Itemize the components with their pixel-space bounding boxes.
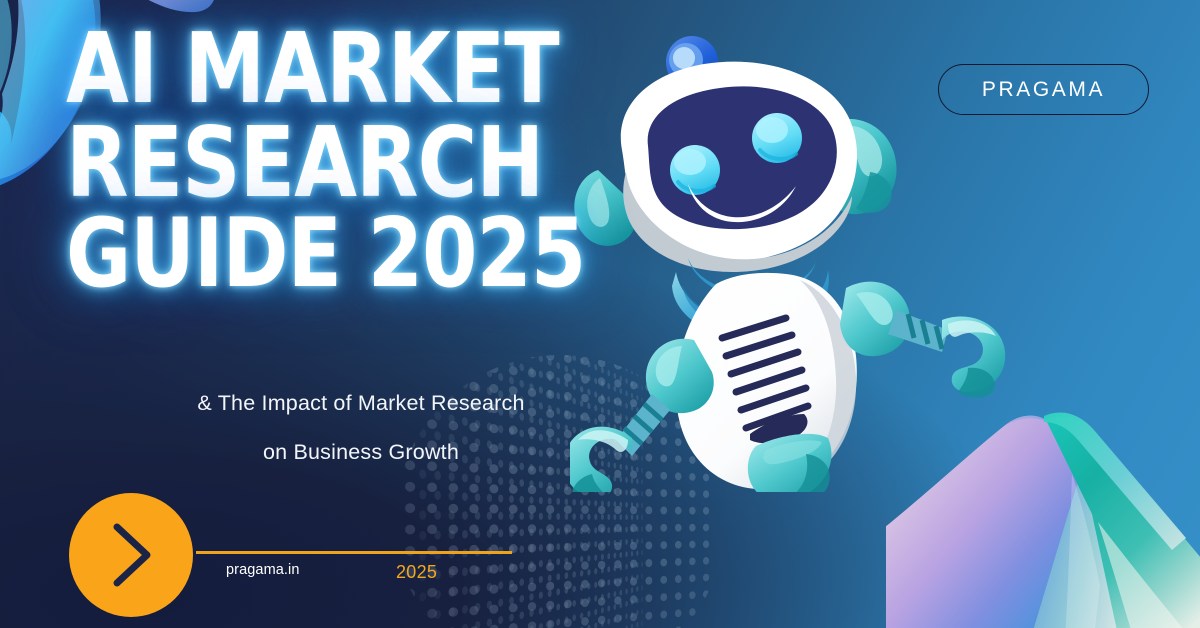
- robot-claw-right: [942, 316, 1005, 397]
- footer-rule: [196, 551, 512, 554]
- banner-canvas: AI MARKET RESEARCH GUIDE 2025 & The Impa…: [0, 0, 1200, 628]
- robot-eye-right: [752, 113, 802, 163]
- footer-year: 2025: [396, 562, 437, 583]
- headline-line-1: AI MARKET: [66, 22, 643, 116]
- brand-badge-label: PRAGAMA: [982, 78, 1105, 102]
- headline-line-3: GUIDE 2025: [66, 209, 643, 301]
- robot-arm-right: [840, 282, 1005, 398]
- footer-website[interactable]: pragama.in: [226, 562, 300, 578]
- subtitle-line-2: on Business Growth: [66, 442, 656, 464]
- headline-line-2: RESEARCH: [66, 116, 643, 210]
- chevron-right-icon: [105, 521, 157, 589]
- cta-circle-button[interactable]: [69, 493, 193, 617]
- brand-badge[interactable]: PRAGAMA: [938, 64, 1149, 115]
- headline: AI MARKET RESEARCH GUIDE 2025: [66, 22, 686, 301]
- subtitle-line-1: & The Impact of Market Research: [66, 393, 656, 415]
- subtitle: & The Impact of Market Research on Busin…: [66, 393, 656, 490]
